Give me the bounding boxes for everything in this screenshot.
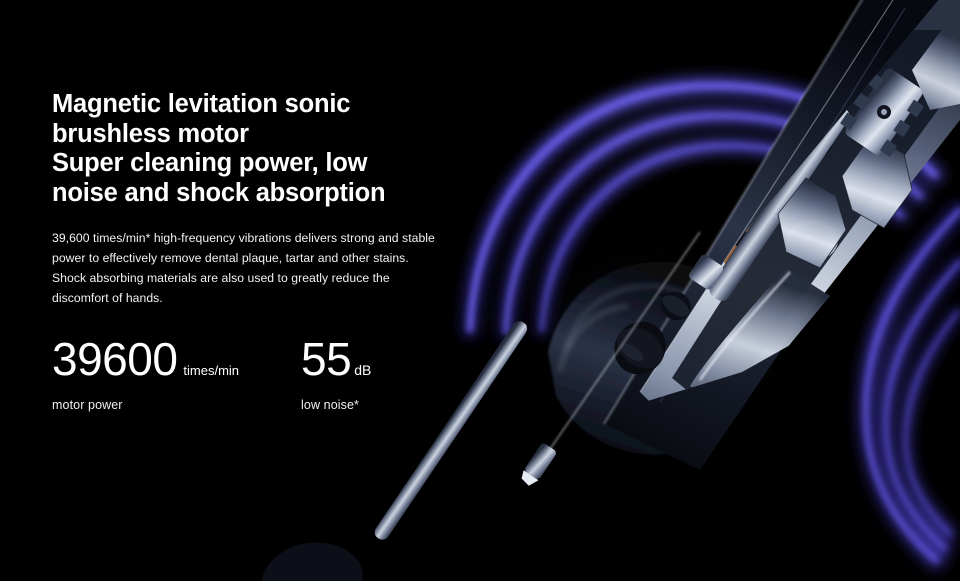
headline-line-3: Super cleaning power, low bbox=[52, 149, 472, 179]
product-feature-banner: Magnetic levitation sonic brushless moto… bbox=[0, 0, 960, 581]
body-line-3: Shock absorbing materials are also used … bbox=[52, 271, 390, 285]
stat-motor-power-caption: motor power bbox=[52, 398, 239, 412]
stat-low-noise-value: 55 bbox=[301, 336, 351, 382]
stat-motor-power-value: 39600 bbox=[52, 336, 177, 382]
body-line-1: 39,600 times/min* high-frequency vibrati… bbox=[52, 231, 435, 245]
stat-low-noise-caption: low noise* bbox=[301, 398, 371, 412]
stat-motor-power: 39600 times/min motor power bbox=[52, 336, 239, 412]
copy-block: Magnetic levitation sonic brushless moto… bbox=[52, 90, 472, 308]
body-line-4: discomfort of hands. bbox=[52, 291, 163, 305]
body-line-2: power to effectively remove dental plaqu… bbox=[52, 251, 409, 265]
description-paragraph: 39,600 times/min* high-frequency vibrati… bbox=[52, 229, 472, 308]
headline-line-4: noise and shock absorption bbox=[52, 179, 472, 209]
spec-stats: 39600 times/min motor power 55 dB low no… bbox=[52, 336, 371, 412]
stat-low-noise-unit: dB bbox=[354, 362, 371, 378]
page-title: Magnetic levitation sonic brushless moto… bbox=[52, 90, 472, 208]
headline-line-1: Magnetic levitation sonic bbox=[52, 90, 350, 118]
stat-motor-power-row: 39600 times/min bbox=[52, 336, 239, 382]
stat-low-noise-row: 55 dB bbox=[301, 336, 371, 382]
stat-motor-power-unit: times/min bbox=[183, 363, 239, 378]
stat-low-noise: 55 dB low noise* bbox=[301, 336, 371, 412]
headline-line-2: brushless motor bbox=[52, 120, 472, 150]
